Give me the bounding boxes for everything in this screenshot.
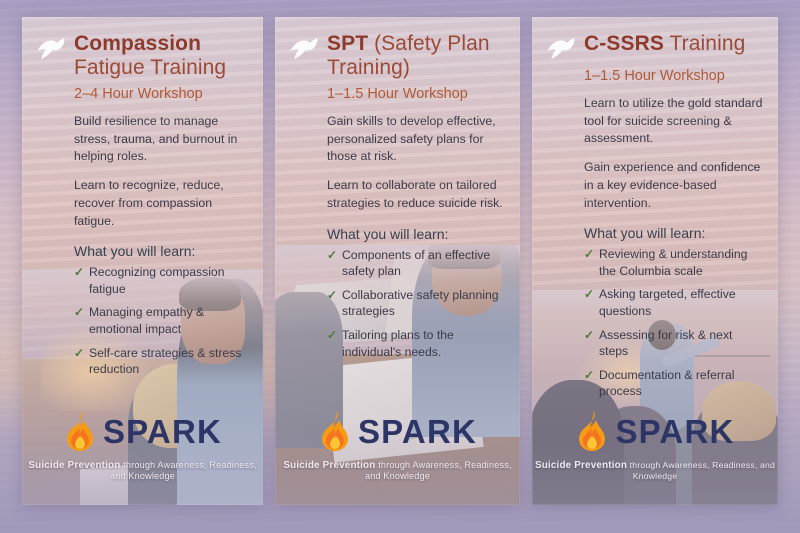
panel-edge (532, 17, 778, 505)
poster-stage: Compassion Fatigue Training 2–4 Hour Wor… (0, 0, 800, 533)
panel-edge (22, 17, 263, 505)
panel-compassion-fatigue-training[interactable]: Compassion Fatigue Training 2–4 Hour Wor… (22, 17, 263, 505)
panel-spt-safety-plan-training[interactable]: SPT (Safety Plan Training) 1–1.5 Hour Wo… (275, 17, 520, 505)
panel-c-ssrs-training[interactable]: C-SSRS Training 1–1.5 Hour Workshop Lear… (532, 17, 778, 505)
panel-edge (275, 17, 520, 505)
